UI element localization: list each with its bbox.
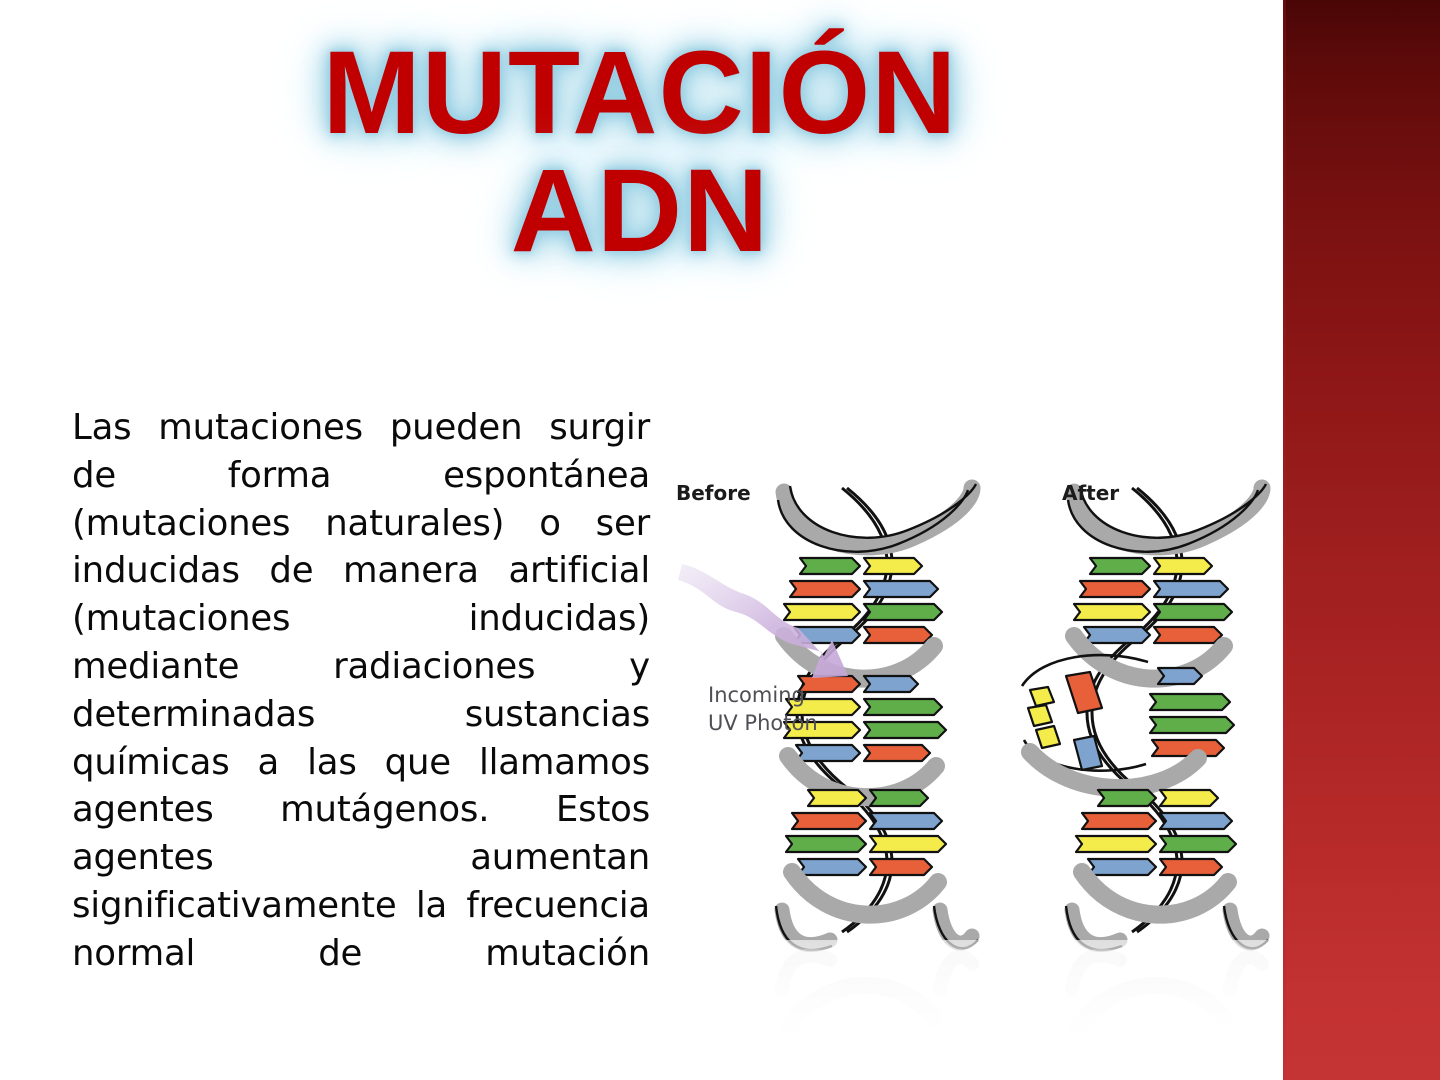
- title-line-mutacion: MUTACIÓN: [120, 36, 1160, 152]
- base-pair-group-1: [784, 558, 942, 643]
- sidebar-inner-edge: [1283, 0, 1286, 1080]
- body-paragraph: Las mutaciones pueden surgir de forma es…: [72, 404, 650, 1025]
- decorative-red-sidebar: [1283, 0, 1440, 1080]
- title-line-adn: ADN: [120, 154, 1160, 270]
- slide-canvas: MUTACIÓN ADN Las mutaciones pueden surgi…: [0, 0, 1440, 1080]
- label-after: After: [1062, 481, 1119, 505]
- dna-helix-after: [1022, 484, 1268, 950]
- label-uv-photon-line2: UV Photon: [708, 711, 818, 735]
- dna-mutation-illustration: Before After Incoming UV Photon: [672, 440, 1278, 1040]
- label-before: Before: [676, 481, 751, 505]
- base-pair-group-after-bottom: [1076, 790, 1236, 875]
- label-uv-photon-line1: Incoming: [708, 683, 805, 707]
- base-pair-group-after-top: [1074, 558, 1232, 643]
- page-title: MUTACIÓN ADN: [120, 36, 1160, 269]
